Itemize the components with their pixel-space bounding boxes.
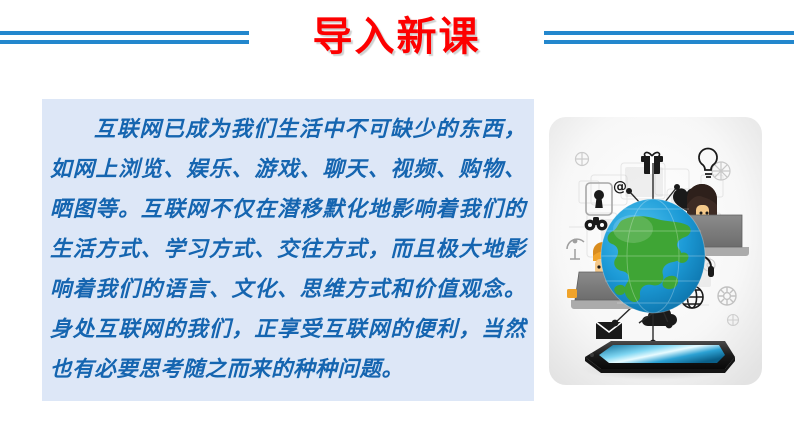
envelope-icon xyxy=(596,322,622,339)
page-title: 导入新课 xyxy=(249,8,544,66)
globe-icon xyxy=(601,199,705,313)
globe-highlight xyxy=(613,215,653,243)
title-rule-left xyxy=(0,31,249,45)
slide-root: 导入新课 互联网已成为我们生活中不可缺少的东西，如网上浏览、娱乐、游戏、聊天、视… xyxy=(0,0,794,447)
slide-header: 导入新课 xyxy=(0,0,794,90)
at-sign-icon: @ xyxy=(613,179,627,195)
gear-icon xyxy=(576,153,589,166)
gift-icon xyxy=(641,152,663,174)
rule-left-line-bottom xyxy=(0,40,249,44)
satellite-dish-icon xyxy=(573,239,578,244)
gear-icon xyxy=(728,315,739,326)
rule-left-line-top xyxy=(0,31,249,35)
content-textbox: 互联网已成为我们生活中不可缺少的东西，如网上浏览、娱乐、游戏、聊天、视频、购物、… xyxy=(42,99,534,401)
internet-globe-illustration: @ xyxy=(549,117,762,385)
tablet-device-icon xyxy=(585,341,735,373)
coffee-cup-icon xyxy=(567,289,577,298)
rule-right-line-top xyxy=(544,31,794,35)
rule-right-line-bottom xyxy=(544,40,794,44)
content-paragraph: 互联网已成为我们生活中不可缺少的东西，如网上浏览、娱乐、游戏、聊天、视频、购物、… xyxy=(50,109,526,389)
title-rule-right xyxy=(544,31,794,45)
svg-text:@: @ xyxy=(613,179,627,195)
